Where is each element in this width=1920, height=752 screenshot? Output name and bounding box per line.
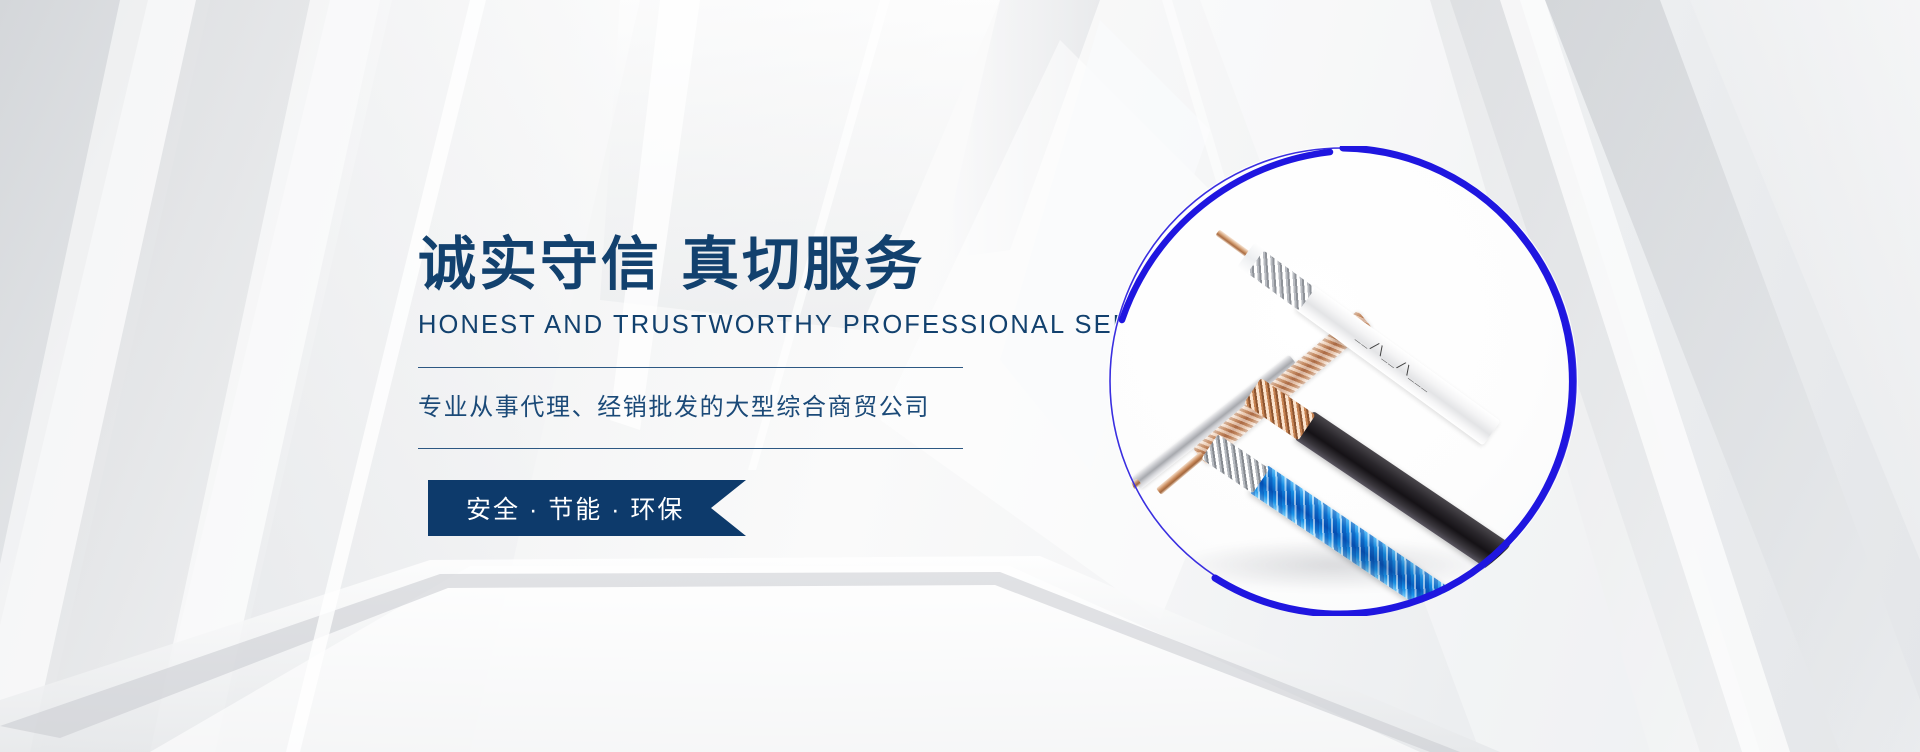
divider-top	[418, 367, 963, 368]
ribbon-tag-label: 安全 · 节能 · 环保	[428, 480, 746, 536]
subtitle-english: HONEST AND TRUSTWORTHY PROFESSIONAL SERV…	[418, 311, 1058, 340]
page-title: 诚实守信 真切服务	[418, 234, 1058, 295]
arc-accent-icon	[1030, 128, 1350, 448]
hero-text-block: 诚实守信 真切服务 HONEST AND TRUSTWORTHY PROFESS…	[418, 234, 1058, 449]
hero-banner: 诚实守信 真切服务 HONEST AND TRUSTWORTHY PROFESS…	[0, 0, 1920, 752]
company-description: 专业从事代理、经销批发的大型综合商贸公司	[418, 387, 1058, 422]
divider-bottom	[418, 448, 963, 449]
